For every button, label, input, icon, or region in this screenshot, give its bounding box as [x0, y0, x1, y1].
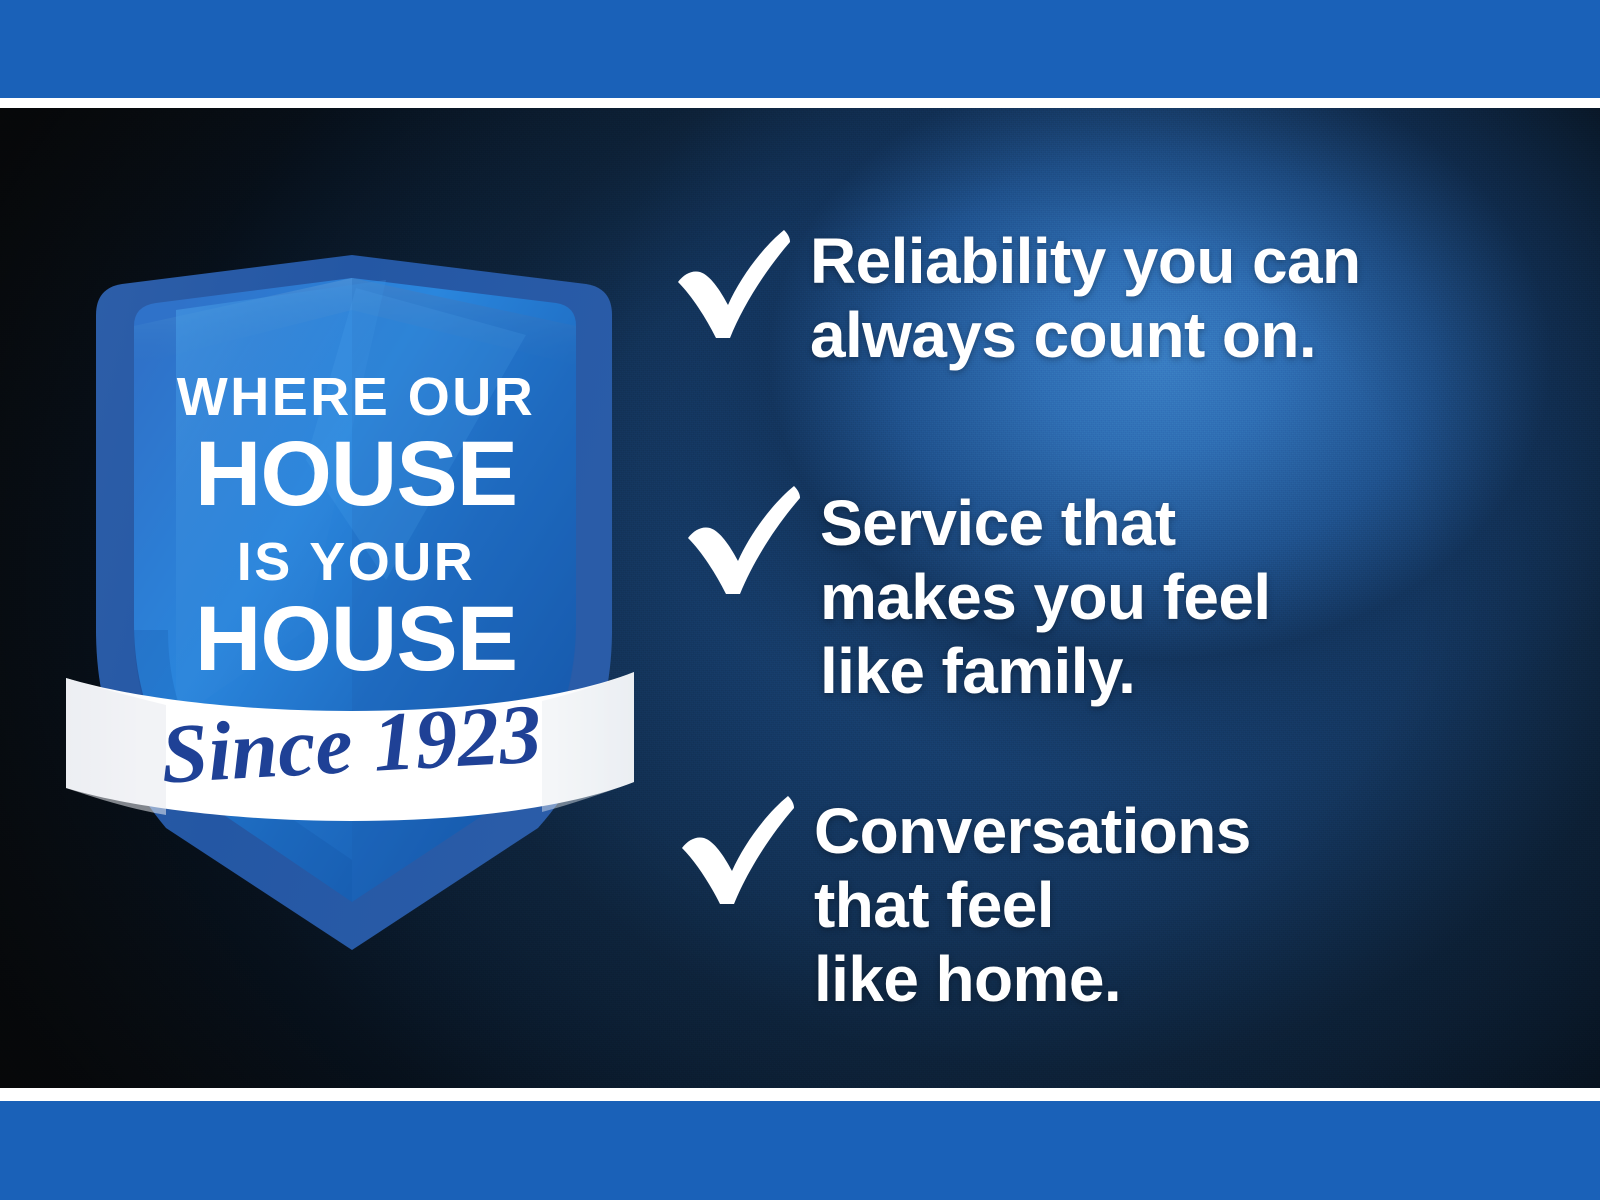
shield-logo: WHERE OUR HOUSE IS YOUR HOUSE Since 1923	[56, 160, 636, 950]
benefit-text-2: Service that makes you feel like family.	[820, 476, 1271, 709]
top-white-stripe	[0, 98, 1600, 108]
benefit-item-1: Reliability you can always count on.	[668, 220, 1361, 372]
logo-line-3: IS YOUR	[237, 532, 476, 592]
promo-graphic: WHERE OUR HOUSE IS YOUR HOUSE Since 1923	[0, 0, 1600, 1200]
bottom-white-stripe	[0, 1088, 1600, 1101]
benefit-text-3: Conversations that feel like home.	[814, 786, 1251, 1017]
bottom-brand-bar	[0, 1101, 1600, 1200]
benefit-text-1: Reliability you can always count on.	[810, 220, 1361, 372]
logo-line-2: HOUSE	[195, 423, 517, 525]
benefit-item-2: Service that makes you feel like family.	[678, 476, 1271, 709]
logo-line-4: HOUSE	[195, 588, 517, 690]
benefit-item-3: Conversations that feel like home.	[672, 786, 1251, 1017]
top-brand-bar	[0, 0, 1600, 98]
logo-line-1: WHERE OUR	[177, 367, 536, 427]
checkmark-icon	[668, 220, 796, 348]
checkmark-icon	[678, 476, 806, 604]
checkmark-icon	[672, 786, 800, 914]
benefit-list: Reliability you can always count on. Ser…	[668, 108, 1568, 1088]
